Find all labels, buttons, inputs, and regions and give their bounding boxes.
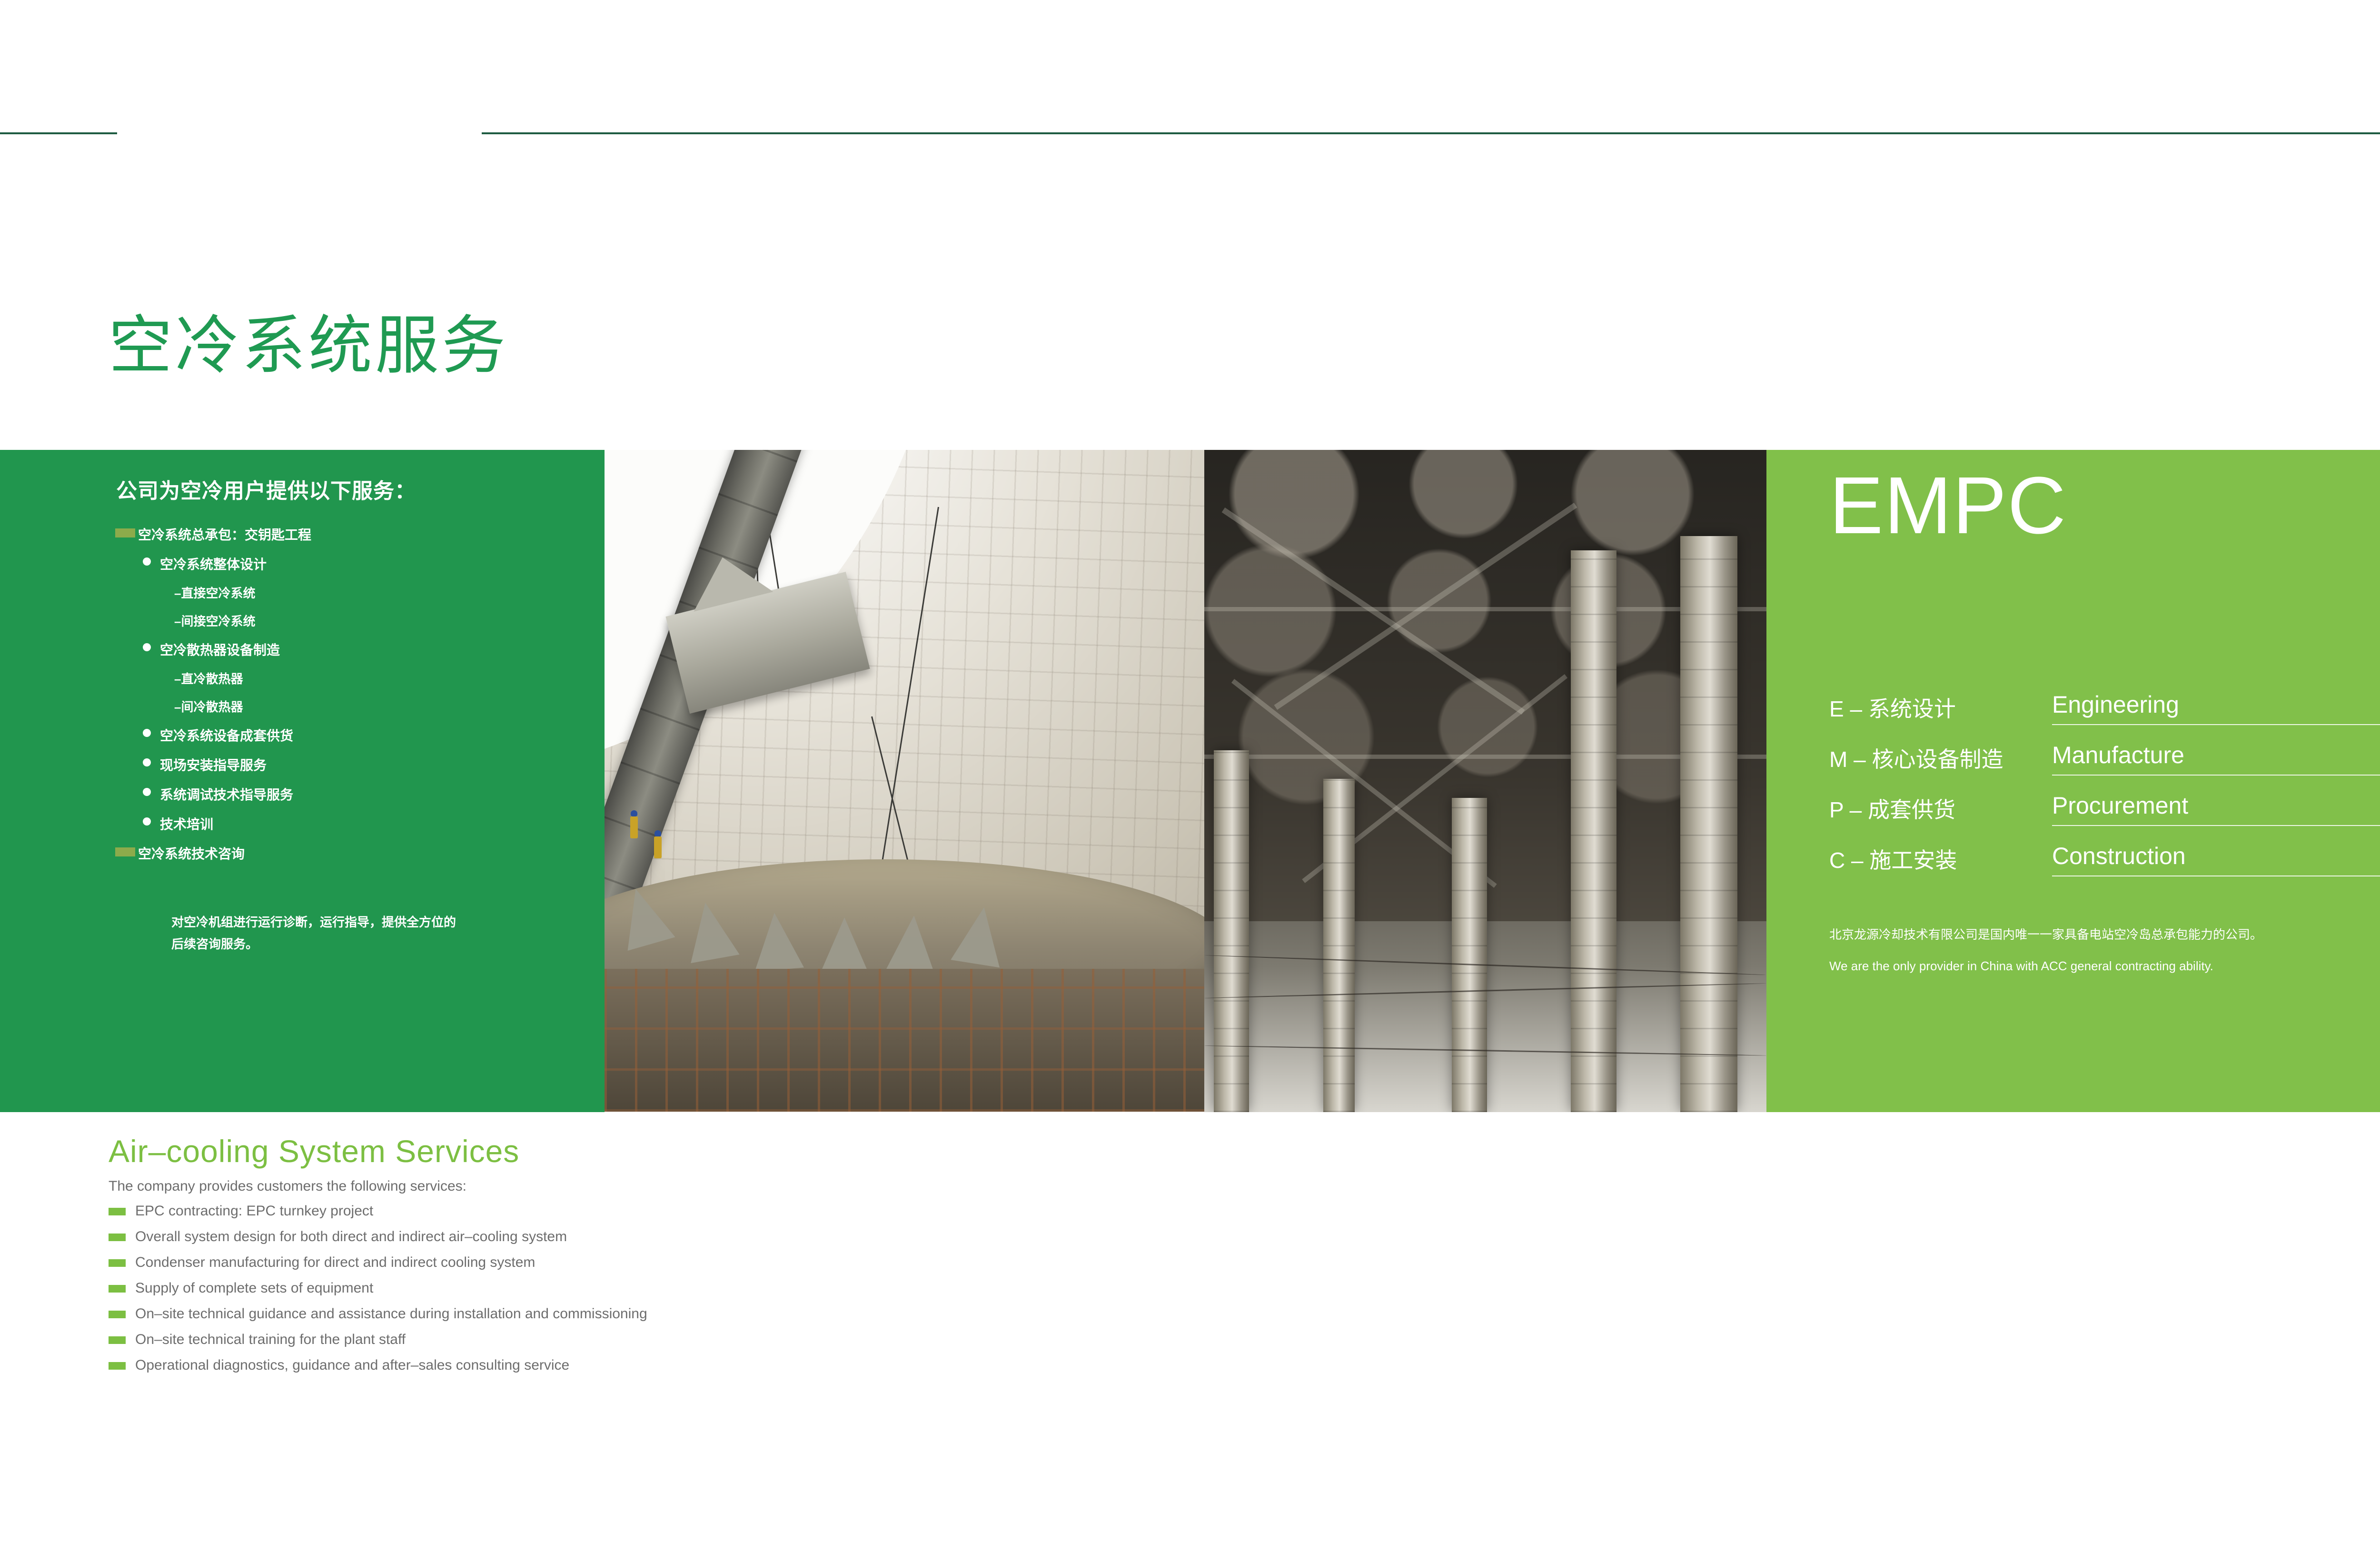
empc-row-label-cn: E – 系统设计 <box>1829 692 1956 723</box>
empc-rows: E – 系统设计 Engineering M – 核心设备制造 Manufact… <box>1829 692 2380 894</box>
service-item-l3: –间冷散热器 <box>109 697 594 715</box>
radiator-triangle <box>681 898 739 963</box>
empc-row-label-en: Engineering <box>2052 691 2380 725</box>
square-marker-icon <box>109 1234 126 1241</box>
empc-panel: EMPC E – 系统设计 Engineering M – 核心设备制造 Man… <box>1766 450 2380 1112</box>
support-column <box>1323 779 1355 1112</box>
photo-strip <box>605 450 1766 1112</box>
empc-row-label-en: Construction <box>2052 842 2380 876</box>
support-column <box>1680 536 1737 1112</box>
english-list-item: On–site technical guidance and assistanc… <box>109 1306 1346 1322</box>
service-item-l2: 现场安装指导服务 <box>109 755 594 774</box>
english-list-item-label: EPC contracting: EPC turnkey project <box>135 1203 373 1219</box>
services-panel: 公司为空冷用户提供以下服务： 空冷系统总承包：交钥匙工程 空冷系统整体设计 –直… <box>0 450 605 1112</box>
square-marker-icon <box>109 1362 126 1370</box>
service-item-l1: 空冷系统技术咨询 <box>109 844 594 863</box>
service-item-l2: 空冷系统设备成套供货 <box>109 726 594 745</box>
english-list-item-label: Overall system design for both direct an… <box>135 1229 567 1244</box>
service-item-l1: 空冷系统总承包：交钥匙工程 <box>109 525 594 544</box>
service-item-label: 现场安装指导服务 <box>160 758 267 773</box>
english-list-item-label: Condenser manufacturing for direct and i… <box>135 1254 535 1270</box>
content-band: 公司为空冷用户提供以下服务： 空冷系统总承包：交钥匙工程 空冷系统整体设计 –直… <box>0 450 2380 1112</box>
english-section-title: Air–cooling System Services <box>109 1133 519 1169</box>
empc-row-label-cn: M – 核心设备制造 <box>1829 742 2003 774</box>
empc-row-label-cn: P – 成套供货 <box>1829 793 1955 824</box>
service-item-label: 技术培训 <box>160 817 213 832</box>
page-title: 空冷系统服务 <box>109 314 508 378</box>
empc-row: E – 系统设计 Engineering <box>1829 692 2380 742</box>
consulting-note-line1: 对空冷机组进行运行诊断，运行指导，提供全方位的 <box>171 912 571 934</box>
english-list-item-label: Supply of complete sets of equipment <box>135 1280 373 1296</box>
bullet-dot-icon <box>143 643 151 651</box>
photo-cooling-tower-interior <box>605 450 1204 1112</box>
empc-title: EMPC <box>1829 465 2067 546</box>
english-list-item: Overall system design for both direct an… <box>109 1229 1346 1245</box>
support-column <box>1452 798 1487 1112</box>
english-list-item: On–site technical training for the plant… <box>109 1332 1346 1348</box>
square-marker-icon <box>109 1208 126 1215</box>
square-marker-icon <box>115 847 135 856</box>
service-item-label: 系统调试技术指导服务 <box>160 787 293 802</box>
support-column <box>1214 750 1249 1112</box>
square-marker-icon <box>115 528 135 537</box>
english-list-item: Condenser manufacturing for direct and i… <box>109 1254 1346 1271</box>
service-item-label: 空冷系统总承包：交钥匙工程 <box>138 527 311 542</box>
english-list-item-label: On–site technical training for the plant… <box>135 1332 406 1347</box>
english-list-item: Operational diagnostics, guidance and af… <box>109 1357 1346 1373</box>
bullet-dot-icon <box>143 788 151 796</box>
bullet-dot-icon <box>143 758 151 766</box>
empc-note-cn: 北京龙源冷却技术有限公司是国内唯一一家具备电站空冷岛总承包能力的公司。 <box>1829 922 2334 947</box>
service-item-l3: –直冷散热器 <box>109 669 594 687</box>
empc-row-label-cn: C – 施工安装 <box>1829 843 1957 875</box>
header-rule-left <box>0 132 117 134</box>
english-list-item: Supply of complete sets of equipment <box>109 1280 1346 1296</box>
scaffolding <box>605 969 1204 1112</box>
empc-row-label-en: Manufacture <box>2052 741 2380 776</box>
service-item-l2: 空冷散热器设备制造 <box>109 640 594 659</box>
service-item-label: 空冷系统设备成套供货 <box>160 728 293 743</box>
header-rule-right <box>482 132 2380 134</box>
bullet-dot-icon <box>143 729 151 737</box>
english-service-list: EPC contracting: EPC turnkey project Ove… <box>109 1203 1346 1383</box>
service-list: 空冷系统总承包：交钥匙工程 空冷系统整体设计 –直接空冷系统 –间接空冷系统 空… <box>109 525 594 873</box>
service-item-label: 空冷散热器设备制造 <box>160 643 280 657</box>
english-list-item-label: On–site technical guidance and assistanc… <box>135 1306 647 1322</box>
square-marker-icon <box>109 1336 126 1344</box>
empc-note-en: We are the only provider in China with A… <box>1829 954 2334 978</box>
service-item-l2: 系统调试技术指导服务 <box>109 785 594 804</box>
radiator-triangle <box>885 914 939 975</box>
english-list-item-label: Operational diagnostics, guidance and af… <box>135 1357 569 1373</box>
consulting-note: 对空冷机组进行运行诊断，运行指导，提供全方位的 后续咨询服务。 <box>171 912 571 955</box>
consulting-note-line2: 后续咨询服务。 <box>171 934 571 955</box>
support-column <box>1571 550 1616 1112</box>
service-item-l3: –间接空冷系统 <box>109 612 594 629</box>
service-item-label: 空冷系统技术咨询 <box>138 846 245 861</box>
worker-figure <box>654 836 662 858</box>
radiator-triangle <box>820 917 869 975</box>
service-item-label: 空冷系统整体设计 <box>160 557 267 572</box>
square-marker-icon <box>109 1285 126 1293</box>
service-item-l2: 空冷系统整体设计 <box>109 554 594 573</box>
worker-figure <box>630 816 638 838</box>
bullet-dot-icon <box>143 557 151 566</box>
empc-row: C – 施工安装 Construction <box>1829 843 2380 894</box>
empc-row: P – 成套供货 Procurement <box>1829 793 2380 843</box>
empc-note: 北京龙源冷却技术有限公司是国内唯一一家具备电站空冷岛总承包能力的公司。 We a… <box>1829 922 2334 978</box>
empc-row: M – 核心设备制造 Manufacture <box>1829 742 2380 793</box>
square-marker-icon <box>109 1259 126 1267</box>
service-item-l2: 技术培训 <box>109 814 594 833</box>
radiator-triangle <box>750 911 804 972</box>
radiator-triangle <box>951 904 1008 968</box>
photo-cooling-tower-underside <box>1204 450 1766 1112</box>
bullet-dot-icon <box>143 817 151 826</box>
english-list-item: EPC contracting: EPC turnkey project <box>109 1203 1346 1219</box>
english-intro: The company provides customers the follo… <box>109 1178 466 1194</box>
empc-row-label-en: Procurement <box>2052 792 2380 826</box>
square-marker-icon <box>109 1311 126 1318</box>
services-panel-heading: 公司为空冷用户提供以下服务： <box>116 474 416 504</box>
service-item-l3: –直接空冷系统 <box>109 584 594 601</box>
